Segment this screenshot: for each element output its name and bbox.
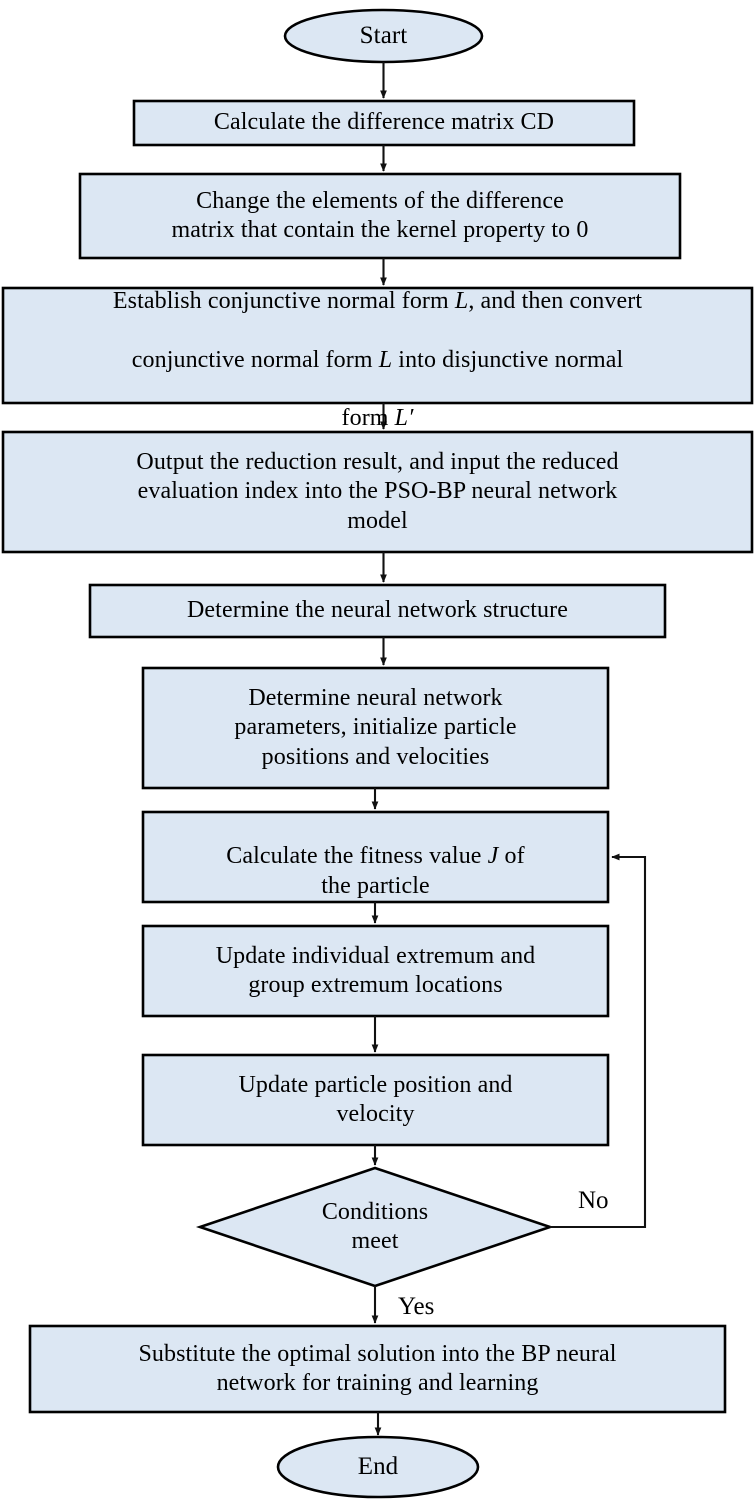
shape-calc-fitness	[143, 812, 608, 902]
shape-calc-cd	[134, 101, 634, 145]
shape-start	[285, 10, 482, 62]
shape-update-extremum	[143, 926, 608, 1016]
shape-end	[278, 1437, 478, 1497]
shape-update-particle	[143, 1055, 608, 1145]
shape-determine-structure	[90, 585, 665, 637]
shape-output-reduction	[3, 432, 752, 552]
shape-change-elements	[80, 174, 680, 258]
flowchart-canvas: Start Calculate the difference matrix CD…	[0, 0, 755, 1508]
node-shapes	[3, 10, 752, 1497]
shape-establish-cnf	[3, 288, 752, 403]
shape-determine-params	[143, 668, 608, 788]
shape-substitute-solution	[30, 1326, 725, 1412]
shape-conditions-meet	[200, 1168, 550, 1286]
connector-conditions-no-loop	[550, 857, 645, 1227]
flowchart-graphics	[0, 0, 755, 1508]
